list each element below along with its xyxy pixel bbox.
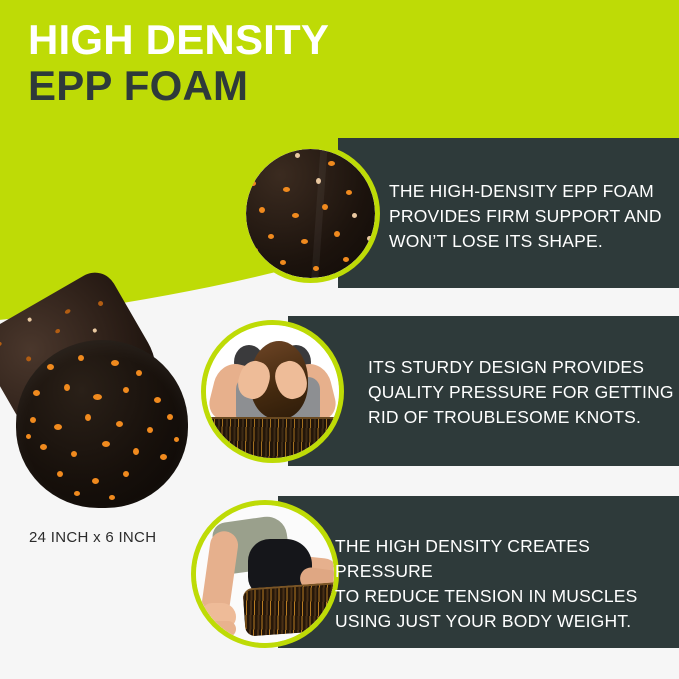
foam-roller-under-thigh <box>242 581 334 636</box>
feature-1-specks <box>246 149 375 278</box>
title-line-2: EPP FOAM <box>28 62 329 110</box>
hero-product-image <box>8 282 204 514</box>
hero-roller-end-cap <box>16 340 188 508</box>
feature-3-photo <box>196 505 334 643</box>
feature-1-text: THE HIGH-DENSITY EPP FOAM PROVIDES FIRM … <box>389 179 679 254</box>
foam-roller-closeup-photo <box>246 149 375 278</box>
foam-roller-under-back <box>206 417 339 458</box>
feature-3-image <box>191 500 339 648</box>
feature-3-text: THE HIGH DENSITY CREATES PRESSURE TO RED… <box>335 534 679 634</box>
product-infographic: HIGH DENSITY EPP FOAM <box>0 0 679 679</box>
feature-1-photo <box>246 149 375 278</box>
product-dimension-label: 24 INCH x 6 INCH <box>29 529 156 546</box>
feature-2-photo <box>206 325 339 458</box>
title-line-1: HIGH DENSITY <box>28 18 329 62</box>
foot <box>206 621 236 637</box>
feature-1-image <box>241 144 380 283</box>
hero-cap-specks <box>16 340 188 508</box>
page-title: HIGH DENSITY EPP FOAM <box>28 18 329 110</box>
feature-2-text: ITS STURDY DESIGN PROVIDES QUALITY PRESS… <box>368 355 679 430</box>
feature-2-image <box>201 320 344 463</box>
